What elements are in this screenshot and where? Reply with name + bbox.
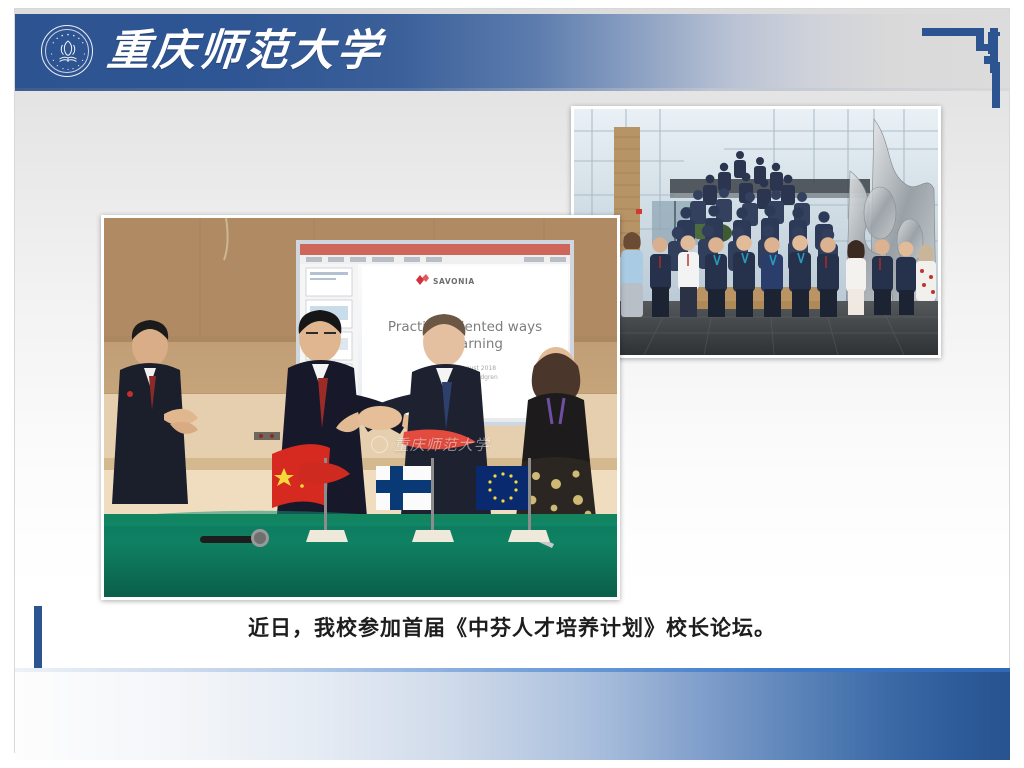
university-logo-icon [41,25,93,77]
footer-band [15,668,1010,760]
group-photo-atrium [571,106,941,358]
university-wordmark: 重庆师范大学 [105,30,385,73]
header-band: 重庆师范大学 [15,14,1010,88]
slide-root: 重庆师范大学 [0,0,1024,768]
slide-caption: 近日，我校参加首届《中芬人才培养计划》校长论坛。 [0,612,1024,642]
header-branding: 重庆师范大学 [41,14,383,88]
footer-accent-line [15,668,1010,672]
signing-ceremony-photo: SAVONIA Practice-oriented ways of Learni… [101,215,620,600]
svg-text:SAVONIA: SAVONIA [433,277,475,286]
corner-ornament-top-right [914,22,1010,110]
